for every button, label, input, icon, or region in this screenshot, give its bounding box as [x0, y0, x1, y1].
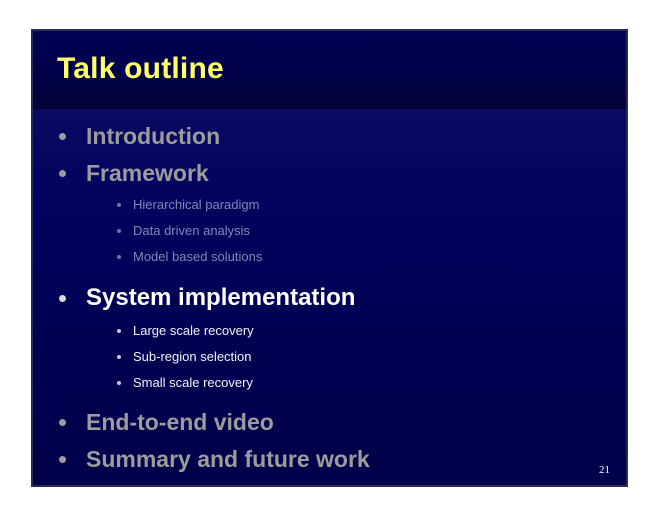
bullet-icon — [117, 381, 121, 385]
outline-item-level1[interactable]: End-to-end video — [33, 404, 626, 441]
outline-item-label: Model based solutions — [133, 249, 262, 264]
outline-item-level2[interactable]: Small scale recovery — [33, 370, 626, 396]
slide-canvas: Talk outline IntroductionFrameworkHierar… — [33, 31, 626, 485]
outline-item-level2[interactable]: Hierarchical paradigm — [33, 192, 626, 218]
outline-item-level1[interactable]: Summary and future work — [33, 441, 626, 478]
bullet-icon — [59, 133, 66, 140]
outline-item-label: Summary and future work — [86, 446, 370, 472]
outline-item-label: End-to-end video — [86, 409, 274, 435]
slide-body: IntroductionFrameworkHierarchical paradi… — [33, 109, 626, 485]
outline-item-level1[interactable]: Introduction — [33, 118, 626, 155]
outline-item-level2[interactable]: Model based solutions — [33, 244, 626, 270]
outline-item-level2[interactable]: Data driven analysis — [33, 218, 626, 244]
bullet-icon — [59, 456, 66, 463]
outline-list: IntroductionFrameworkHierarchical paradi… — [33, 109, 626, 478]
bullet-icon — [117, 255, 121, 259]
bullet-icon — [117, 203, 121, 207]
bullet-icon — [117, 229, 121, 233]
outline-group-gap — [33, 396, 626, 404]
bullet-icon — [59, 419, 66, 426]
outline-item-label: System implementation — [86, 284, 355, 311]
outline-item-label: Introduction — [86, 123, 220, 149]
slide-title-band: Talk outline — [33, 31, 626, 109]
outline-item-level2[interactable]: Sub-region selection — [33, 344, 626, 370]
slide-frame: Talk outline IntroductionFrameworkHierar… — [31, 29, 628, 487]
page-title: Talk outline — [57, 52, 224, 86]
presentation-page: Talk outline IntroductionFrameworkHierar… — [0, 0, 660, 510]
outline-item-label: Sub-region selection — [133, 349, 252, 364]
outline-group-gap — [33, 270, 626, 278]
outline-item-label: Large scale recovery — [133, 323, 254, 338]
outline-item-level1[interactable]: System implementation — [33, 278, 626, 318]
slide-number: 21 — [599, 464, 610, 476]
outline-item-label: Data driven analysis — [133, 223, 250, 238]
bullet-icon — [117, 329, 121, 333]
outline-item-label: Framework — [86, 160, 209, 186]
outline-item-level1[interactable]: Framework — [33, 155, 626, 192]
bullet-icon — [117, 355, 121, 359]
outline-item-label: Hierarchical paradigm — [133, 197, 259, 212]
outline-item-label: Small scale recovery — [133, 375, 253, 390]
bullet-icon — [59, 295, 66, 302]
outline-item-level2[interactable]: Large scale recovery — [33, 318, 626, 344]
bullet-icon — [59, 170, 66, 177]
